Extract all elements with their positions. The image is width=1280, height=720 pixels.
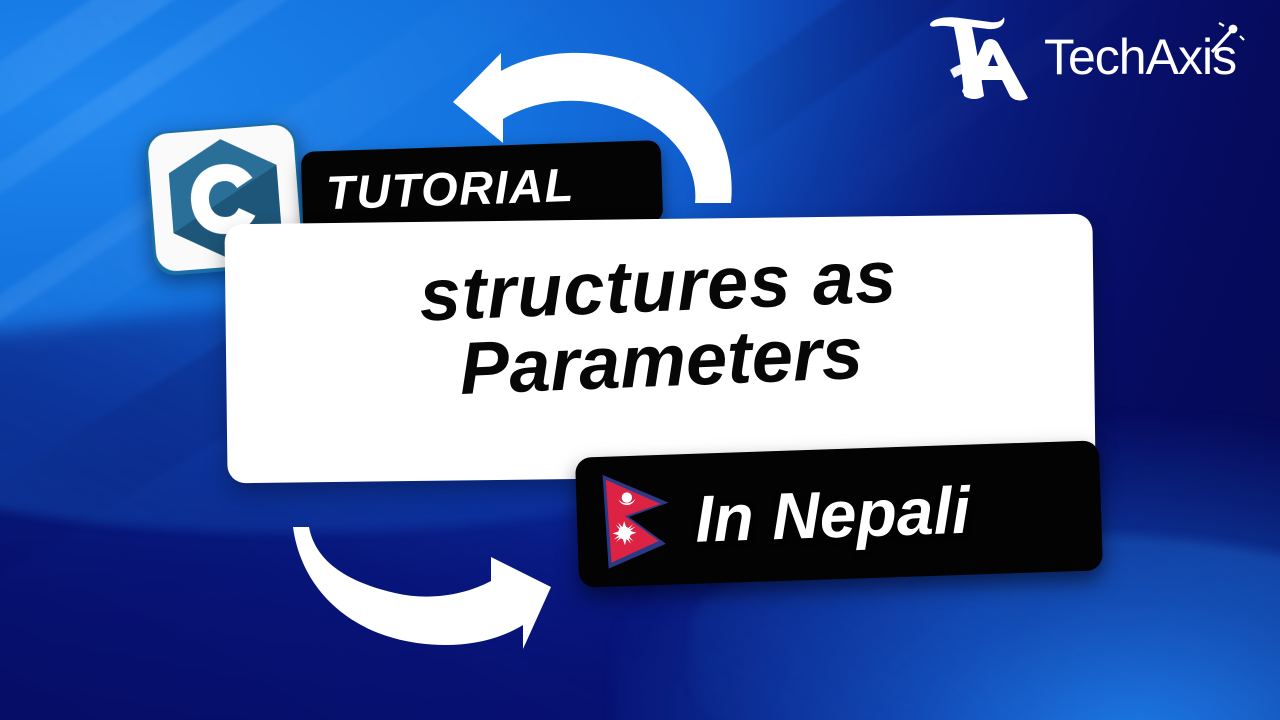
techaxis-monogram-icon bbox=[920, 12, 1036, 104]
title-card: structures as Parameters bbox=[224, 214, 1095, 484]
tutorial-label: TUTORIAL bbox=[301, 156, 575, 220]
brand-name-tech: Tech bbox=[1044, 29, 1146, 85]
curved-arrow-right-icon bbox=[285, 525, 555, 670]
nepal-flag-icon bbox=[597, 469, 678, 572]
brand-name-axis: Axis bbox=[1146, 29, 1236, 85]
language-label: In Nepali bbox=[694, 472, 971, 557]
thumbnail-canvas: C TUTORIAL structures as Parameters bbox=[0, 0, 1280, 720]
language-badge: In Nepali bbox=[575, 440, 1103, 587]
techaxis-wordmark: TechAxis bbox=[1044, 22, 1256, 94]
title-block: structures as Parameters bbox=[224, 232, 1095, 415]
svg-text:TechAxis: TechAxis bbox=[1044, 29, 1236, 85]
brand-logo: TechAxis bbox=[920, 12, 1256, 104]
